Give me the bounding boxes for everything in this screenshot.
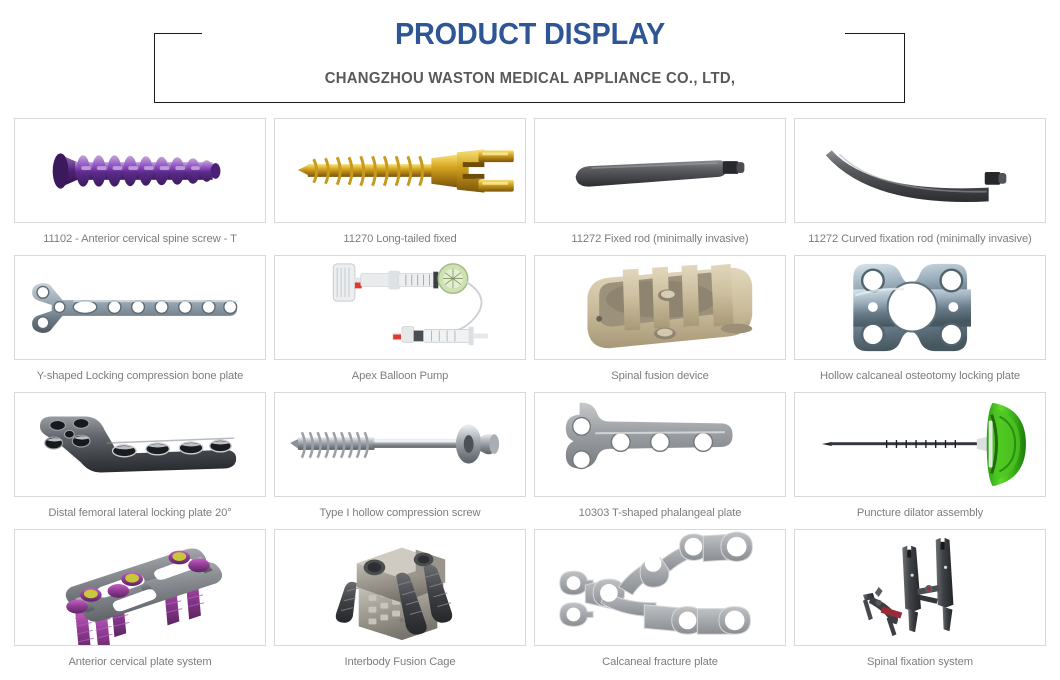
product-card[interactable]: Spinal fixation system [794,529,1046,677]
apex-balloon-pump-icon [275,256,525,359]
y-shaped-locking-plate-icon [15,256,265,359]
product-caption: Calcaneal fracture plate [534,646,786,678]
product-card[interactable]: Anterior cervical plate system [14,529,266,677]
product-card[interactable]: Puncture dilator assembly [794,392,1046,529]
product-caption: Anterior cervical plate system [14,646,266,678]
product-caption: 10303 T-shaped phalangeal plate [534,497,786,529]
product-card[interactable]: Apex Balloon Pump [274,255,526,392]
product-thumbnail [14,255,266,360]
straight-fixation-rod-icon [535,119,785,222]
product-grid: 11102 - Anterior cervical spine screw - … [14,118,1046,677]
product-card[interactable]: 10303 T-shaped phalangeal plate [534,392,786,529]
hollow-compression-screw-icon [275,393,525,496]
product-caption: Spinal fixation system [794,646,1046,678]
product-card[interactable]: Interbody Fusion Cage [274,529,526,677]
calcaneal-fracture-plate-icon [535,530,785,645]
product-thumbnail [274,529,526,646]
product-card[interactable]: 11272 Fixed rod (minimally invasive) [534,118,786,255]
product-thumbnail [274,392,526,497]
product-caption: Spinal fusion device [534,360,786,392]
product-thumbnail [274,255,526,360]
product-caption: Type I hollow compression screw [274,497,526,529]
product-caption: Puncture dilator assembly [794,497,1046,529]
product-display-page: PRODUCT DISPLAY CHANGZHOU WASTON MEDICAL… [0,0,1060,680]
page-title: PRODUCT DISPLAY [37,16,1023,52]
company-name: CHANGZHOU WASTON MEDICAL APPLIANCE CO., … [21,70,1039,88]
product-caption: Apex Balloon Pump [274,360,526,392]
curved-fixation-rod-icon [795,119,1045,222]
product-card[interactable]: 11272 Curved fixation rod (minimally inv… [794,118,1046,255]
product-card[interactable]: Hollow calcaneal osteotomy locking plate [794,255,1046,392]
product-caption: Distal femoral lateral locking plate 20° [14,497,266,529]
product-thumbnail [274,118,526,223]
puncture-dilator-assembly-icon [795,393,1045,496]
gold-pedicle-screw-icon [275,119,525,222]
spinal-fusion-cage-icon [535,256,785,359]
product-card[interactable]: Spinal fusion device [534,255,786,392]
anterior-cervical-plate-system-icon [15,530,265,645]
product-thumbnail [794,529,1046,646]
product-caption: Hollow calcaneal osteotomy locking plate [794,360,1046,392]
product-thumbnail [534,255,786,360]
interbody-fusion-cage-icon [275,530,525,645]
hollow-calcaneal-plate-icon [795,256,1045,359]
product-caption: Y-shaped Locking compression bone plate [14,360,266,392]
product-thumbnail [794,392,1046,497]
product-thumbnail [534,529,786,646]
product-card[interactable]: Type I hollow compression screw [274,392,526,529]
product-card[interactable]: Calcaneal fracture plate [534,529,786,677]
product-caption: 11102 - Anterior cervical spine screw - … [14,223,266,255]
t-shaped-phalangeal-plate-icon [535,393,785,496]
product-caption: 11270 Long-tailed fixed [274,223,526,255]
product-thumbnail [14,392,266,497]
product-caption: 11272 Curved fixation rod (minimally inv… [794,223,1046,255]
product-caption: Interbody Fusion Cage [274,646,526,678]
distal-femoral-plate-icon [15,393,265,496]
product-thumbnail [14,118,266,223]
purple-cervical-screw-icon [15,119,265,222]
product-card[interactable]: 11270 Long-tailed fixed [274,118,526,255]
product-caption: 11272 Fixed rod (minimally invasive) [534,223,786,255]
spinal-fixation-system-icon [795,530,1045,645]
product-card[interactable]: Distal femoral lateral locking plate 20° [14,392,266,529]
product-card[interactable]: 11102 - Anterior cervical spine screw - … [14,118,266,255]
product-thumbnail [534,118,786,223]
product-thumbnail [14,529,266,646]
page-header: PRODUCT DISPLAY CHANGZHOU WASTON MEDICAL… [0,0,1060,112]
product-thumbnail [794,255,1046,360]
product-thumbnail [794,118,1046,223]
product-thumbnail [534,392,786,497]
product-card[interactable]: Y-shaped Locking compression bone plate [14,255,266,392]
